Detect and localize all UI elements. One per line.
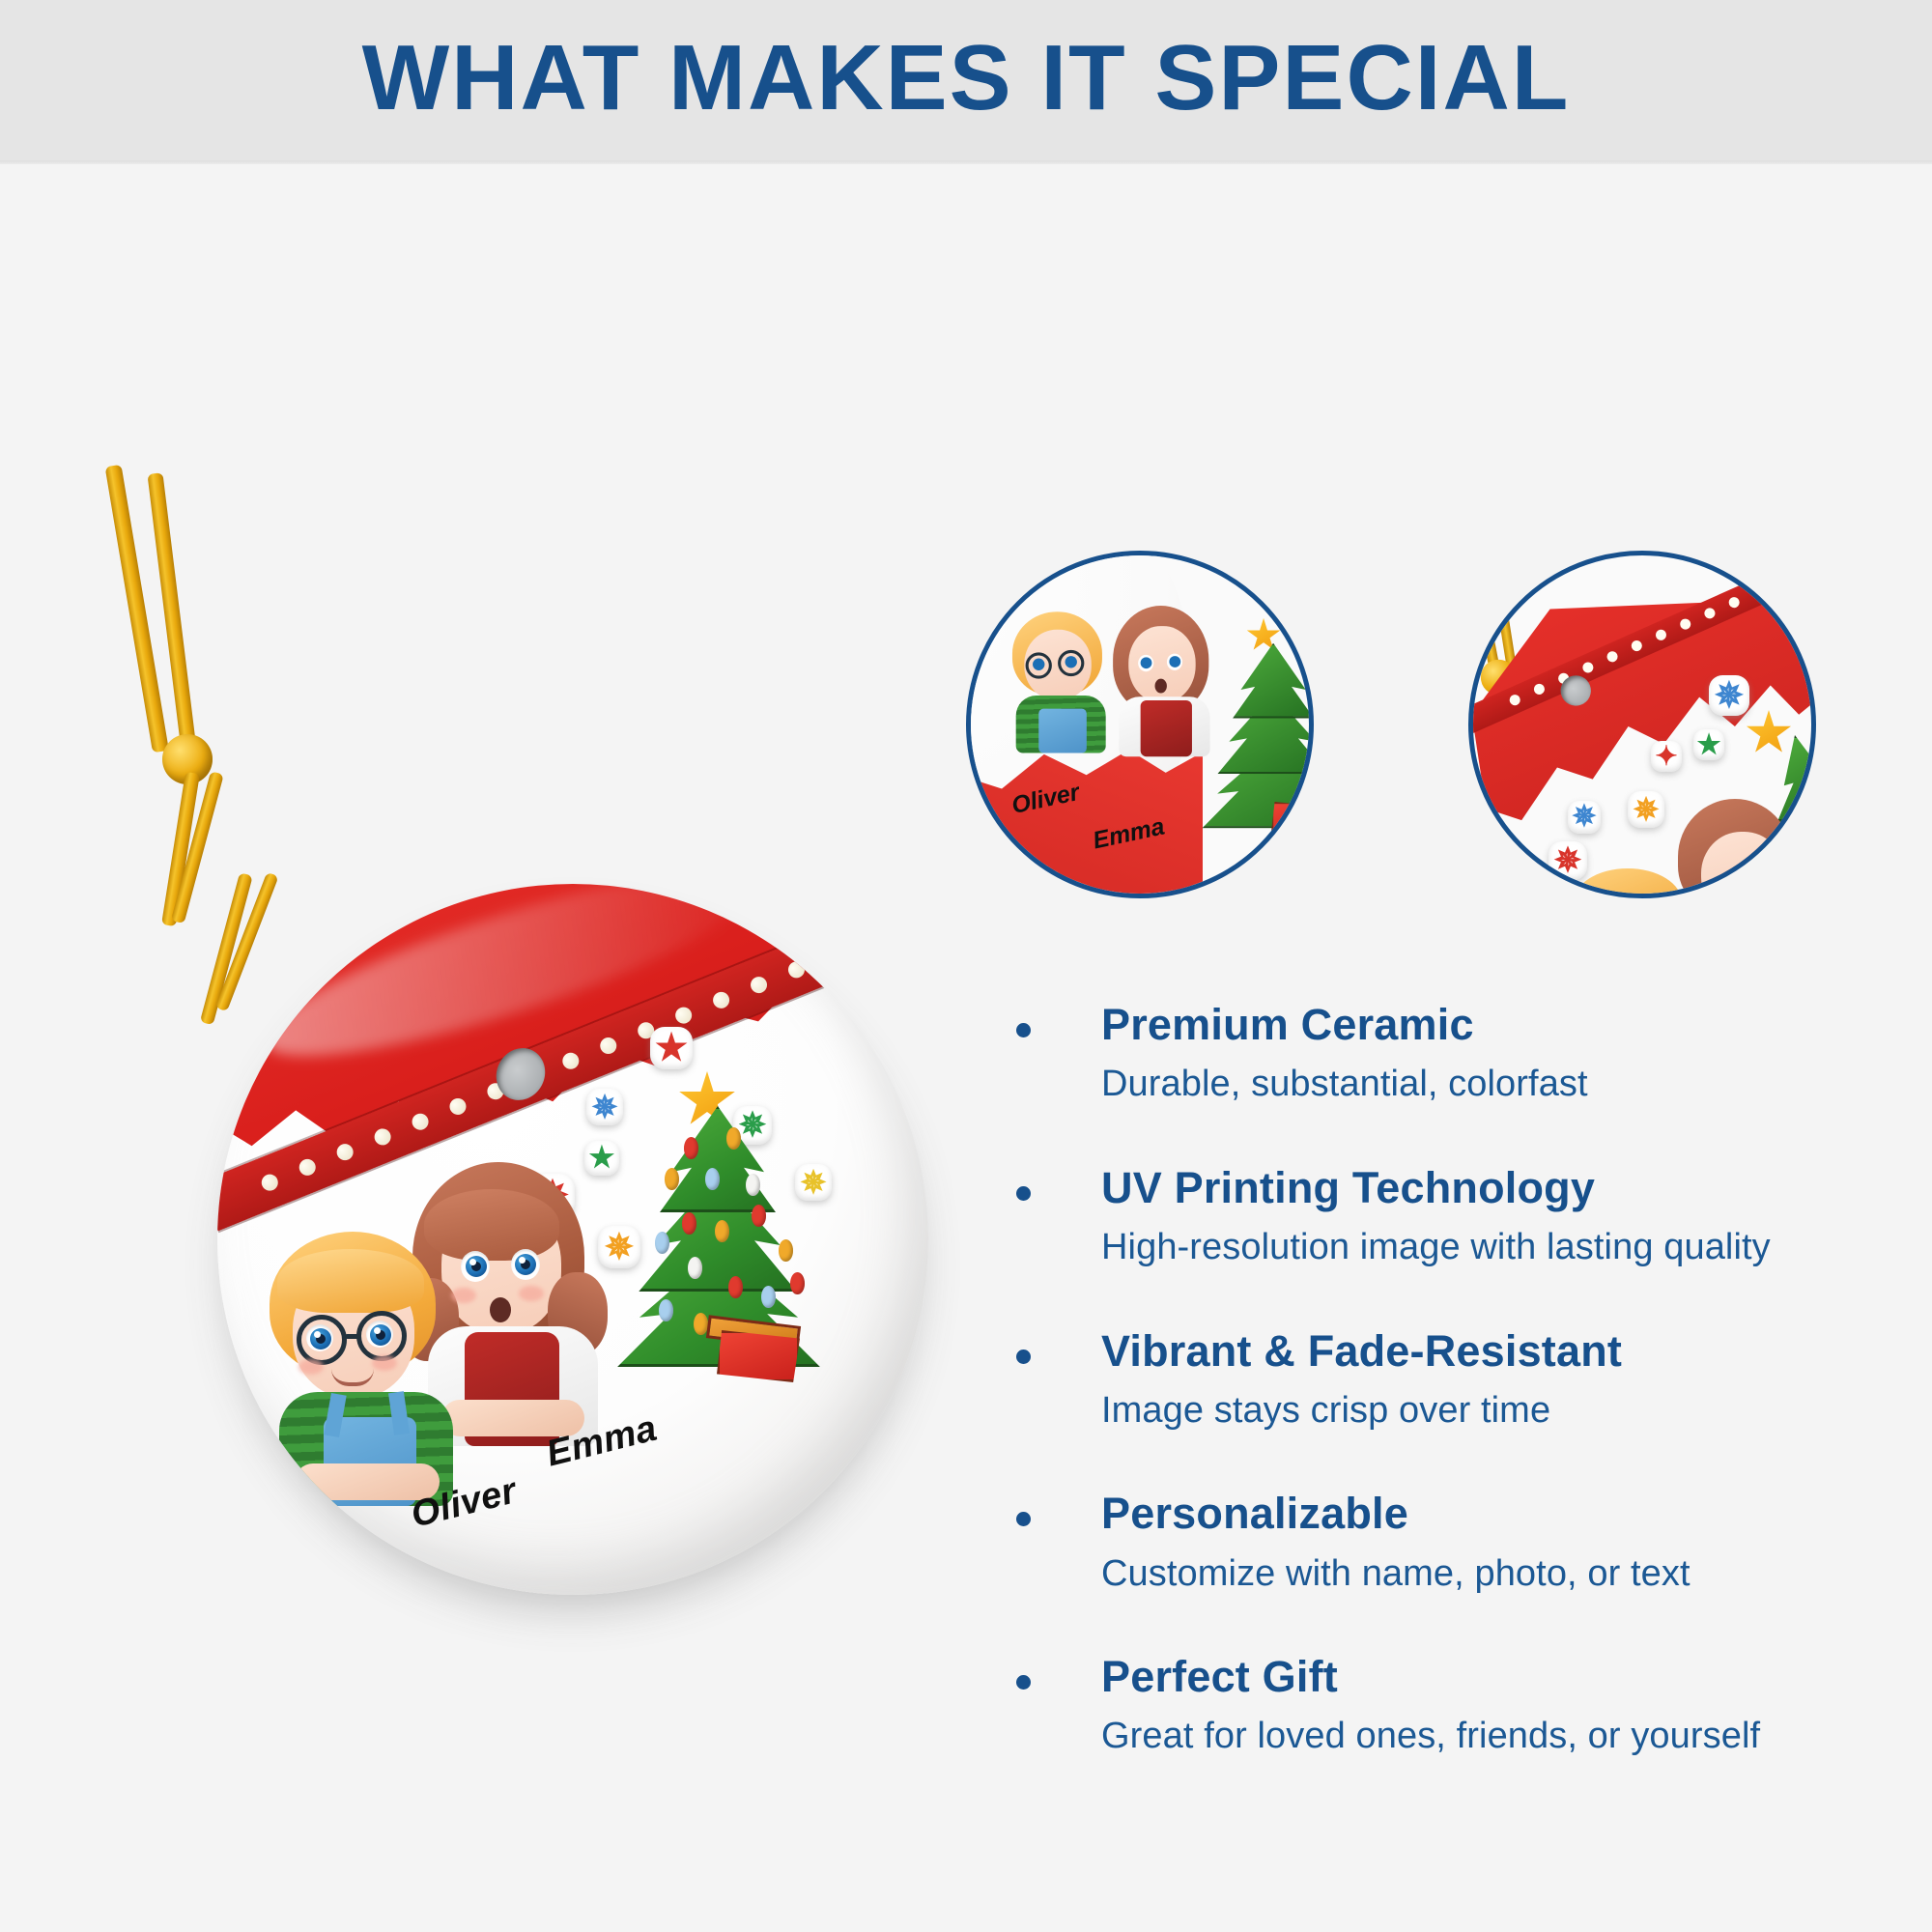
ribbon-dot-icon: [748, 974, 769, 995]
cheek: [519, 1286, 544, 1301]
bullet-icon: [1016, 1350, 1031, 1364]
ribbon-dot-icon: [785, 958, 807, 980]
ribbon-dot-icon: [823, 944, 844, 965]
christmas-tree-icon: [599, 1067, 840, 1357]
tree-light-icon: [726, 1127, 741, 1150]
detail-circle-characters: Oliver Emma: [966, 551, 1314, 898]
eye: [366, 1321, 393, 1348]
cheek: [372, 1355, 397, 1371]
ribbon-dot-icon: [447, 1095, 469, 1117]
feature-item: Personalizable Customize with name, phot…: [1000, 1489, 1908, 1596]
tree-light-icon: [761, 1286, 776, 1308]
feature-description: High-resolution image with lasting quali…: [1101, 1226, 1908, 1270]
tree-light-icon: [665, 1168, 679, 1190]
feature-description: Image stays crisp over time: [1101, 1389, 1908, 1434]
feature-title: Premium Ceramic: [1101, 1000, 1908, 1050]
feature-description: Customize with name, photo, or text: [1101, 1552, 1908, 1597]
tree-light-icon: [684, 1137, 698, 1159]
tree-light-icon: [728, 1276, 743, 1298]
page-header: WHAT MAKES IT SPECIAL: [0, 0, 1932, 164]
ribbon-dot-icon: [898, 913, 920, 934]
product-ornament-image: ✵ ✵ ✵ ✦ ★ ✵ ✵ ✵ ✦ ★ ✵ ✵ ✵: [126, 444, 995, 1729]
detail-circle-cord-cap: ✵ ✦ ★ ✵ ✵ ✵: [1468, 551, 1816, 898]
ribbon-dot-icon: [297, 1156, 318, 1178]
ribbon-dot-icon: [372, 1125, 393, 1147]
feature-title: Vibrant & Fade-Resistant: [1101, 1326, 1908, 1377]
ribbon-dot-icon: [334, 1141, 355, 1162]
ribbon-dot-icon: [598, 1035, 619, 1056]
tree-light-icon: [705, 1168, 720, 1190]
page-title: WHAT MAKES IT SPECIAL: [362, 32, 1571, 125]
feature-description: Great for loved ones, friends, or yourse…: [1101, 1715, 1908, 1759]
snowflake-icon: ✦: [1651, 741, 1682, 772]
eye: [306, 1324, 333, 1351]
bullet-icon: [1016, 1512, 1031, 1526]
tree-light-icon: [715, 1220, 729, 1242]
bullet-icon: [1016, 1023, 1031, 1037]
tree-light-icon: [688, 1257, 702, 1279]
ribbon-dot-icon: [259, 1172, 280, 1193]
feature-item: Perfect Gift Great for loved ones, frien…: [1000, 1652, 1908, 1759]
tree-light-icon: [655, 1232, 669, 1254]
ribbon-dot-icon: [861, 928, 882, 950]
snowflake-icon: ★: [1693, 729, 1724, 760]
glasses-bridge: [345, 1334, 360, 1339]
cheek: [298, 1359, 324, 1375]
feature-title: Perfect Gift: [1101, 1652, 1908, 1702]
feature-item: Premium Ceramic Durable, substantial, co…: [1000, 1000, 1908, 1107]
tree-light-icon: [659, 1299, 673, 1321]
feature-list: Premium Ceramic Durable, substantial, co…: [1000, 1000, 1908, 1815]
ribbon-dot-icon: [560, 1050, 582, 1071]
tree-pot-icon: [717, 1330, 800, 1382]
tree-light-icon: [790, 1272, 805, 1294]
content-area: ✵ ✵ ✵ ✦ ★ ✵ ✵ ✵ ✦ ★ ✵ ✵ ✵: [0, 164, 1932, 1932]
ribbon-dot-icon: [710, 989, 731, 1010]
feature-item: UV Printing Technology High-resolution i…: [1000, 1163, 1908, 1270]
bullet-icon: [1016, 1186, 1031, 1201]
tree-light-icon: [682, 1212, 696, 1235]
feature-title: UV Printing Technology: [1101, 1163, 1908, 1213]
mouth: [490, 1297, 511, 1322]
hair-fringe: [277, 1249, 424, 1313]
snowflake-icon: ★: [650, 1027, 693, 1069]
snowflake-icon: ✵: [1628, 791, 1664, 828]
feature-item: Vibrant & Fade-Resistant Image stays cri…: [1000, 1326, 1908, 1434]
tree-tier: [645, 1106, 790, 1212]
feature-title: Personalizable: [1101, 1489, 1908, 1539]
eye: [511, 1249, 540, 1280]
snowflake-icon: ✵: [1568, 801, 1601, 834]
eye: [1753, 865, 1769, 880]
tree-light-icon: [779, 1239, 793, 1262]
feature-description: Durable, substantial, colorfast: [1101, 1063, 1908, 1107]
tree-light-icon: [746, 1174, 760, 1196]
tree-light-icon: [752, 1205, 766, 1227]
ribbon-dot-icon: [672, 1005, 694, 1026]
ribbon-dot-icon: [410, 1111, 431, 1132]
bullet-icon: [1016, 1675, 1031, 1690]
ceramic-disc: ✵ ✵ ✵ ✦ ★ ✵ ✵ ✵ ✦ ★ ✵ ✵ ✵: [217, 884, 928, 1595]
snowflake-icon: ✵: [1548, 841, 1587, 880]
snowflake-icon: ✵: [1709, 675, 1749, 716]
